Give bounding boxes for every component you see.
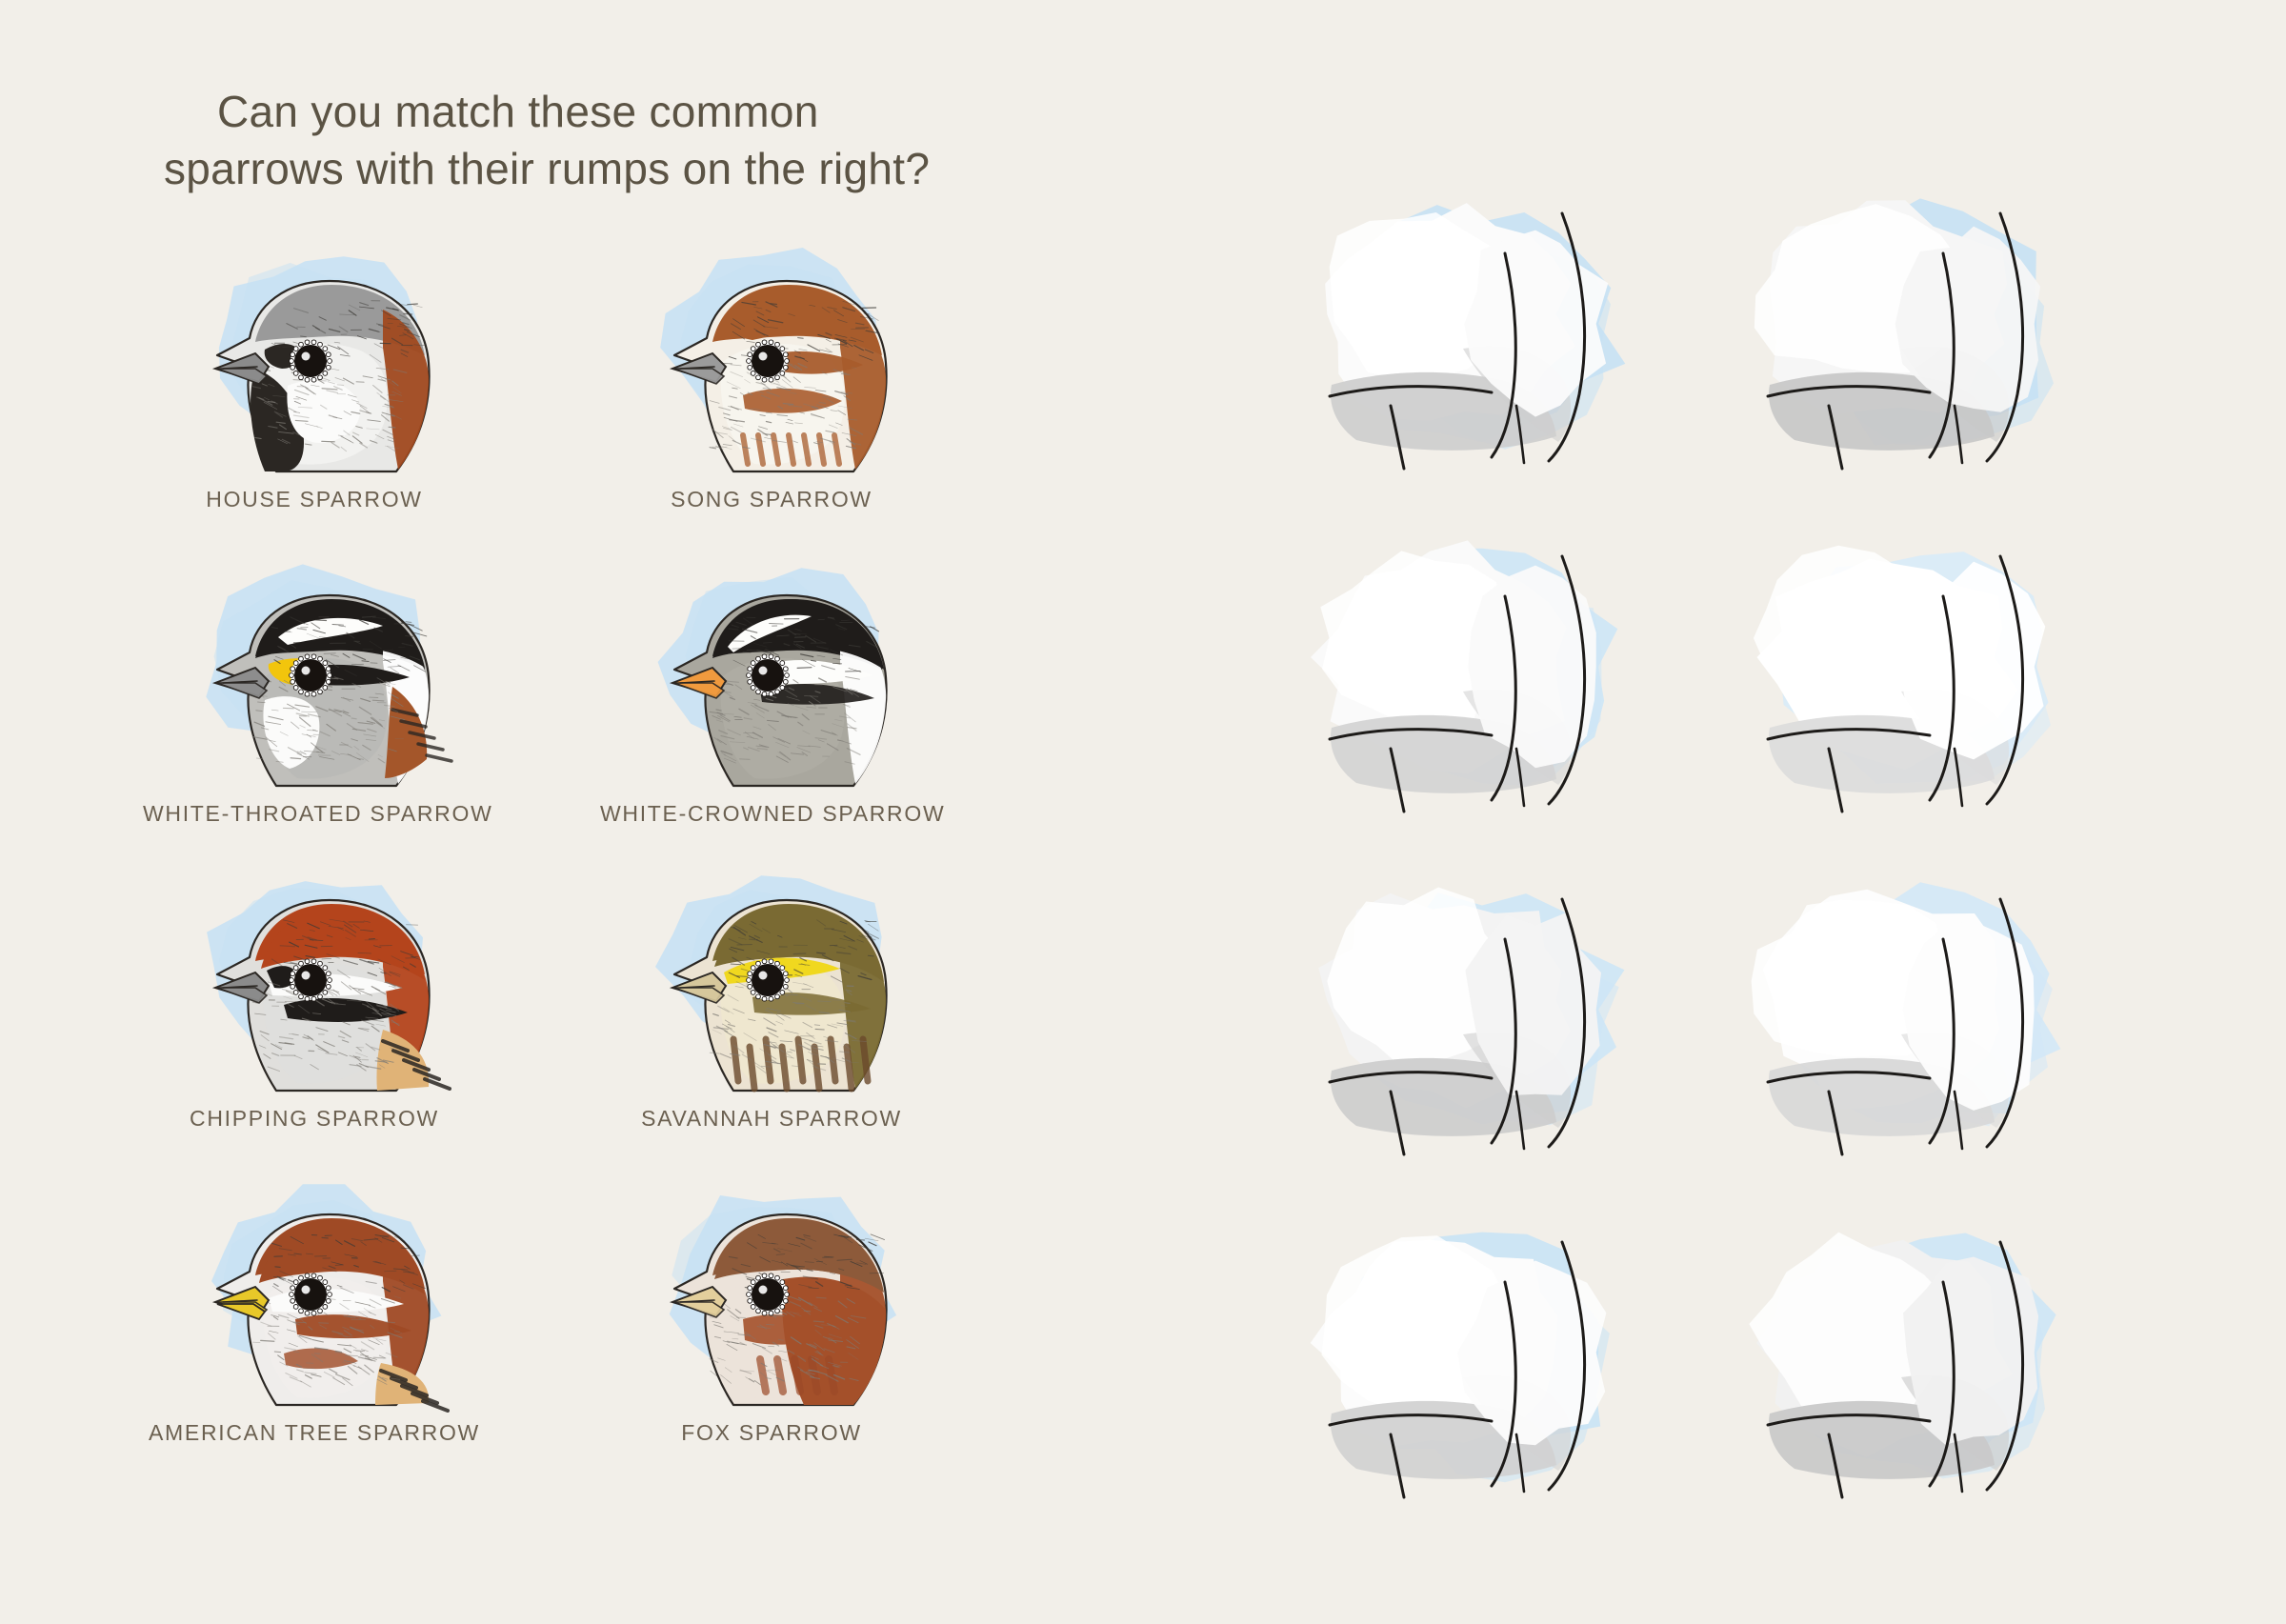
sparrow-rump-illustration: [1276, 181, 1686, 505]
rump-card-2[interactable]: [1714, 181, 2124, 505]
sparrow-name-label: SAVANNAH SPARROW: [600, 1106, 943, 1132]
sparrow-card-fox-sparrow[interactable]: FOX SPARROW: [600, 1176, 962, 1446]
sparrow-card-chipping-sparrow[interactable]: CHIPPING SPARROW: [143, 862, 505, 1132]
sparrow-card-white-crowned-sparrow[interactable]: WHITE-CROWNED SPARROW: [600, 557, 962, 827]
sparrow-head-image[interactable]: [600, 1176, 943, 1414]
sparrow-rump-illustration: [1714, 524, 2124, 848]
sparrow-rump-illustration: [1714, 1210, 2124, 1534]
sparrow-head-illustration: [143, 1176, 486, 1414]
sparrow-name-label: CHIPPING SPARROW: [143, 1106, 486, 1132]
sparrow-head-image[interactable]: [143, 862, 486, 1100]
sparrow-head-image[interactable]: [143, 557, 486, 795]
sparrow-name-label: SONG SPARROW: [600, 487, 943, 512]
sparrow-card-house-sparrow[interactable]: HOUSE SPARROW: [143, 243, 505, 512]
sparrow-rump-illustration: [1276, 524, 1686, 848]
sparrow-head-illustration: [143, 557, 486, 795]
sparrow-head-illustration: [600, 862, 943, 1100]
sparrow-head-illustration: [600, 243, 943, 481]
sparrow-rump-illustration: [1714, 181, 2124, 505]
sparrow-card-white-throated-sparrow[interactable]: WHITE-THROATED SPARROW: [143, 557, 505, 827]
page-title-line2: sparrows with their rumps on the right?: [164, 141, 1093, 198]
sparrow-head-image[interactable]: [143, 1176, 486, 1414]
sparrow-card-american-tree-sparrow[interactable]: AMERICAN TREE SPARROW: [143, 1176, 505, 1446]
rump-card-6[interactable]: [1714, 867, 2124, 1191]
rump-card-4[interactable]: [1714, 524, 2124, 848]
sparrow-head-image[interactable]: [143, 243, 486, 481]
sparrow-name-label: HOUSE SPARROW: [143, 487, 486, 512]
sparrow-head-illustration: [143, 243, 486, 481]
sparrow-name-label: WHITE-CROWNED SPARROW: [600, 801, 943, 827]
sparrow-head-illustration: [143, 862, 486, 1100]
sparrow-head-illustration: [600, 557, 943, 795]
rump-card-5[interactable]: [1276, 867, 1686, 1191]
sparrow-head-image[interactable]: [600, 243, 943, 481]
sparrow-head-image[interactable]: [600, 557, 943, 795]
page-title: Can you match these common sparrows with…: [217, 84, 1093, 198]
rump-card-1[interactable]: [1276, 181, 1686, 505]
sparrow-name-label: AMERICAN TREE SPARROW: [143, 1420, 486, 1446]
rump-card-7[interactable]: [1276, 1210, 1686, 1534]
sparrow-name-label: WHITE-THROATED SPARROW: [143, 801, 486, 827]
rump-card-3[interactable]: [1276, 524, 1686, 848]
sparrow-head-image[interactable]: [600, 862, 943, 1100]
sparrow-name-label: FOX SPARROW: [600, 1420, 943, 1446]
rump-card-8[interactable]: [1714, 1210, 2124, 1534]
sparrow-rump-illustration: [1714, 867, 2124, 1191]
sparrow-rump-illustration: [1276, 867, 1686, 1191]
page-title-line1: Can you match these common: [217, 84, 1093, 141]
sparrow-head-illustration: [600, 1176, 943, 1414]
sparrow-card-song-sparrow[interactable]: SONG SPARROW: [600, 243, 962, 512]
sparrow-rump-illustration: [1276, 1210, 1686, 1534]
sparrow-card-savannah-sparrow[interactable]: SAVANNAH SPARROW: [600, 862, 962, 1132]
